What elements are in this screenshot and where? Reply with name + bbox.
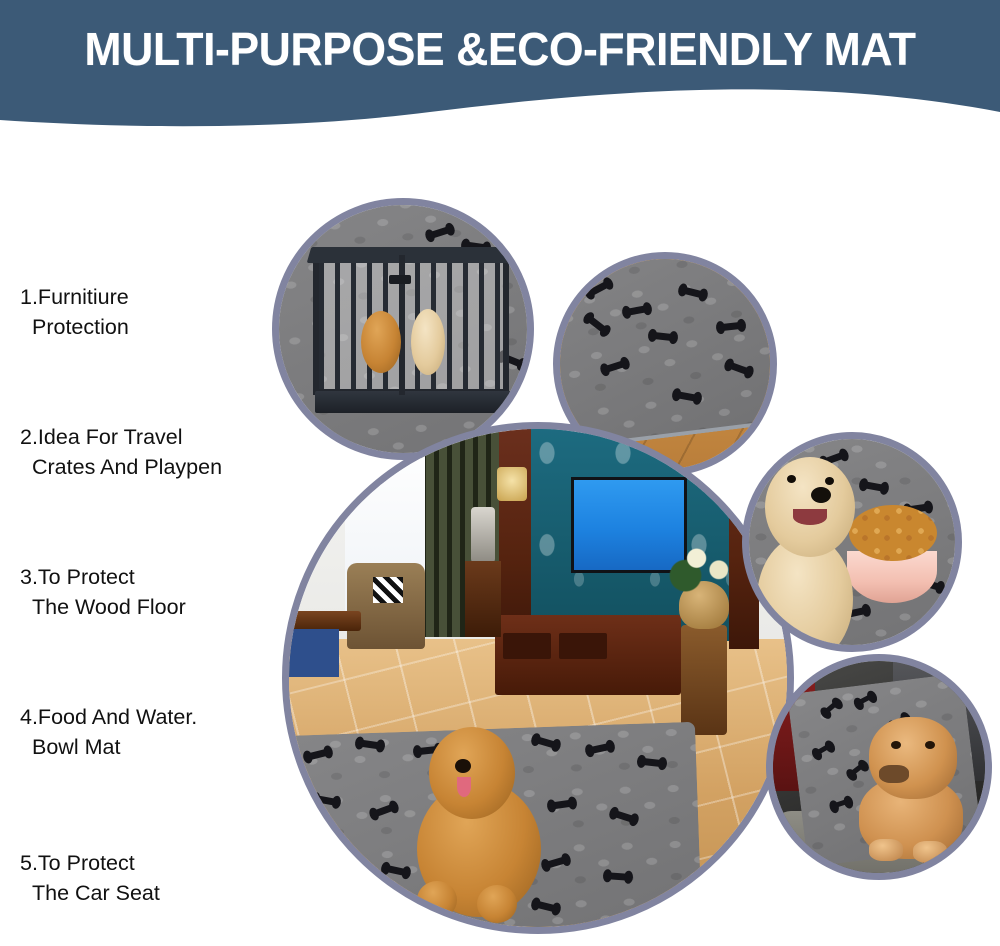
- food-bowl-scene: [749, 439, 955, 645]
- bone-motif: [319, 852, 341, 861]
- dog-eye: [787, 475, 796, 483]
- living-room-photo: [282, 422, 794, 934]
- crate-latch: [389, 275, 411, 284]
- car-seat-scene: [773, 661, 985, 873]
- car-seat-photo: [766, 654, 992, 880]
- crate-tray: [315, 391, 511, 413]
- dog-nose: [811, 487, 831, 503]
- puppy-eye: [891, 741, 901, 749]
- crate-enclosure: [313, 255, 509, 395]
- armchair-cushion: [373, 577, 403, 603]
- bone-motif: [641, 758, 664, 767]
- product-infographic: MULTI-PURPOSE &ECO-FRIENDLY MAT 1.Furnit…: [0, 0, 1000, 946]
- photo-collage: [0, 0, 1000, 946]
- console-drawer: [503, 633, 551, 659]
- dog-tongue: [457, 777, 471, 797]
- puppy-head: [869, 717, 957, 799]
- mat-surface: [553, 252, 777, 452]
- puppy-muzzle: [879, 765, 909, 783]
- bone-motif: [720, 322, 743, 331]
- bone-motif: [652, 332, 675, 341]
- dog-in-crate: [361, 311, 401, 373]
- food-bowl-photo: [742, 432, 962, 652]
- bone-motif: [551, 800, 574, 810]
- dog-nose: [455, 759, 471, 773]
- pedestal: [681, 625, 727, 735]
- golden-retriever-head: [429, 727, 515, 819]
- dog-paw: [417, 881, 457, 919]
- wood-column-left: [497, 429, 531, 645]
- crate-photo: [272, 198, 534, 460]
- chandelier-lamp: [497, 467, 527, 501]
- puppy-paw: [869, 839, 903, 861]
- bust-sculpture: [471, 507, 495, 563]
- dog-eye: [825, 477, 834, 485]
- puppy-paw: [913, 841, 947, 863]
- console-drawer: [559, 633, 607, 659]
- living-room-scene: [289, 429, 787, 927]
- dog-head: [765, 457, 855, 557]
- crate-scene: [279, 205, 527, 453]
- puppy-eye: [925, 741, 935, 749]
- side-table: [465, 561, 501, 637]
- dog-paw: [477, 885, 517, 923]
- coffee-table: [289, 611, 361, 631]
- bone-motif: [607, 872, 629, 881]
- armchair: [347, 563, 425, 649]
- crate-roof: [307, 247, 517, 263]
- second-dog-in-crate: [411, 309, 445, 375]
- dog-mouth: [793, 509, 827, 525]
- blue-rug: [289, 629, 339, 677]
- bone-motif: [359, 740, 382, 750]
- kibble: [849, 505, 937, 561]
- flower-arrangement: [667, 535, 741, 593]
